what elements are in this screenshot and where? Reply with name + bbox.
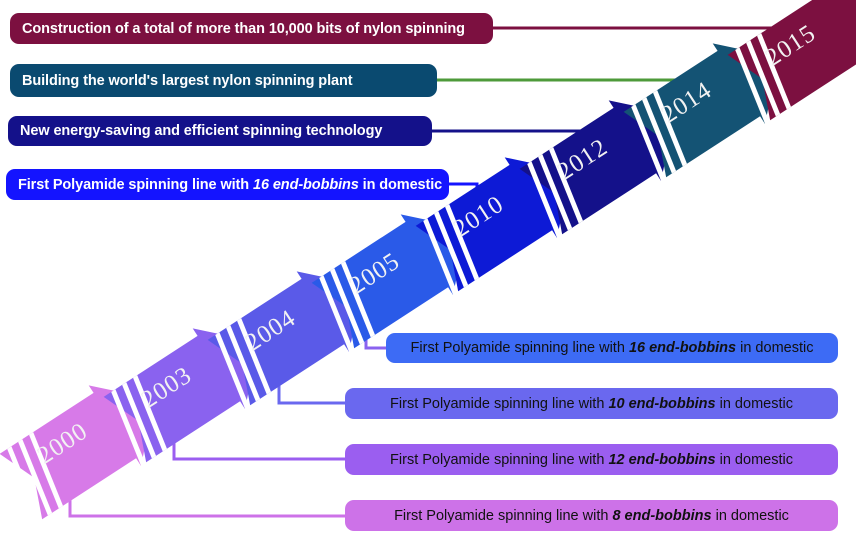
top-label-2012-text: New energy-saving and efficient spinning… [20,123,382,139]
top-label-2015[interactable]: Construction of a total of more than 10,… [10,13,493,44]
top-label-2010-text: First Polyamide spinning line with 16 en… [18,177,442,193]
bottom-label-2004-text: First Polyamide spinning line with 10 en… [390,396,793,412]
timeline-diagram: 2000 2003 2004 2005 [0,0,856,541]
bottom-label-2003[interactable]: First Polyamide spinning line with 12 en… [345,444,838,475]
top-label-2014[interactable]: Building the world's largest nylon spinn… [10,64,437,97]
bottom-label-2000-text: First Polyamide spinning line with 8 end… [394,508,789,524]
bottom-label-2004[interactable]: First Polyamide spinning line with 10 en… [345,388,838,419]
top-label-2012[interactable]: New energy-saving and efficient spinning… [8,116,432,146]
bottom-label-2000[interactable]: First Polyamide spinning line with 8 end… [345,500,838,531]
bottom-label-2005-text: First Polyamide spinning line with 16 en… [411,340,814,356]
top-label-2010[interactable]: First Polyamide spinning line with 16 en… [6,169,449,200]
top-label-2015-text: Construction of a total of more than 10,… [22,21,465,37]
bottom-label-2003-text: First Polyamide spinning line with 12 en… [390,452,793,468]
bottom-label-2005[interactable]: First Polyamide spinning line with 16 en… [386,333,838,363]
top-label-2014-text: Building the world's largest nylon spinn… [22,73,352,89]
